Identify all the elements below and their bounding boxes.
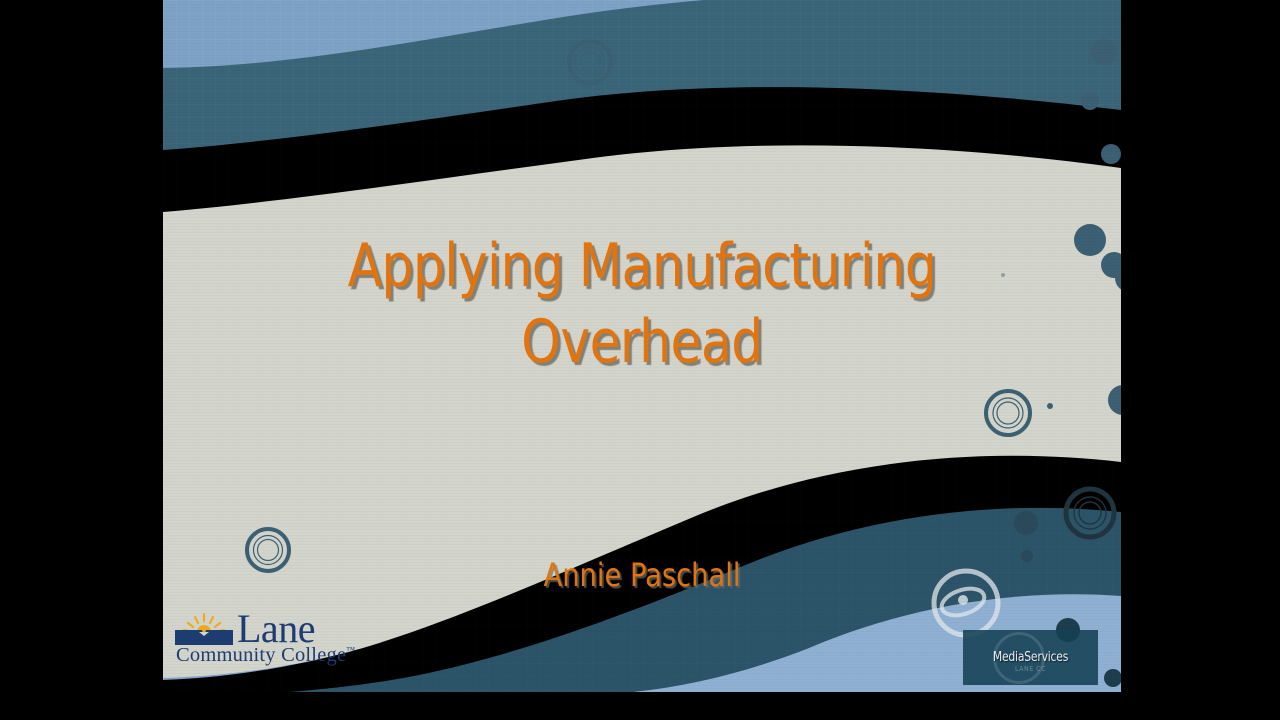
watermark-label: MediaServices: [968, 650, 1092, 665]
presentation-slide: Applying Manufacturing Overhead Annie Pa…: [163, 0, 1121, 692]
watermark-sublabel: LANE CC: [963, 665, 1098, 673]
video-player-frame: Applying Manufacturing Overhead Annie Pa…: [0, 0, 1280, 720]
slide-background-artwork: [163, 0, 1121, 692]
mediaservices-watermark: MediaServices LANE CC: [963, 630, 1098, 685]
